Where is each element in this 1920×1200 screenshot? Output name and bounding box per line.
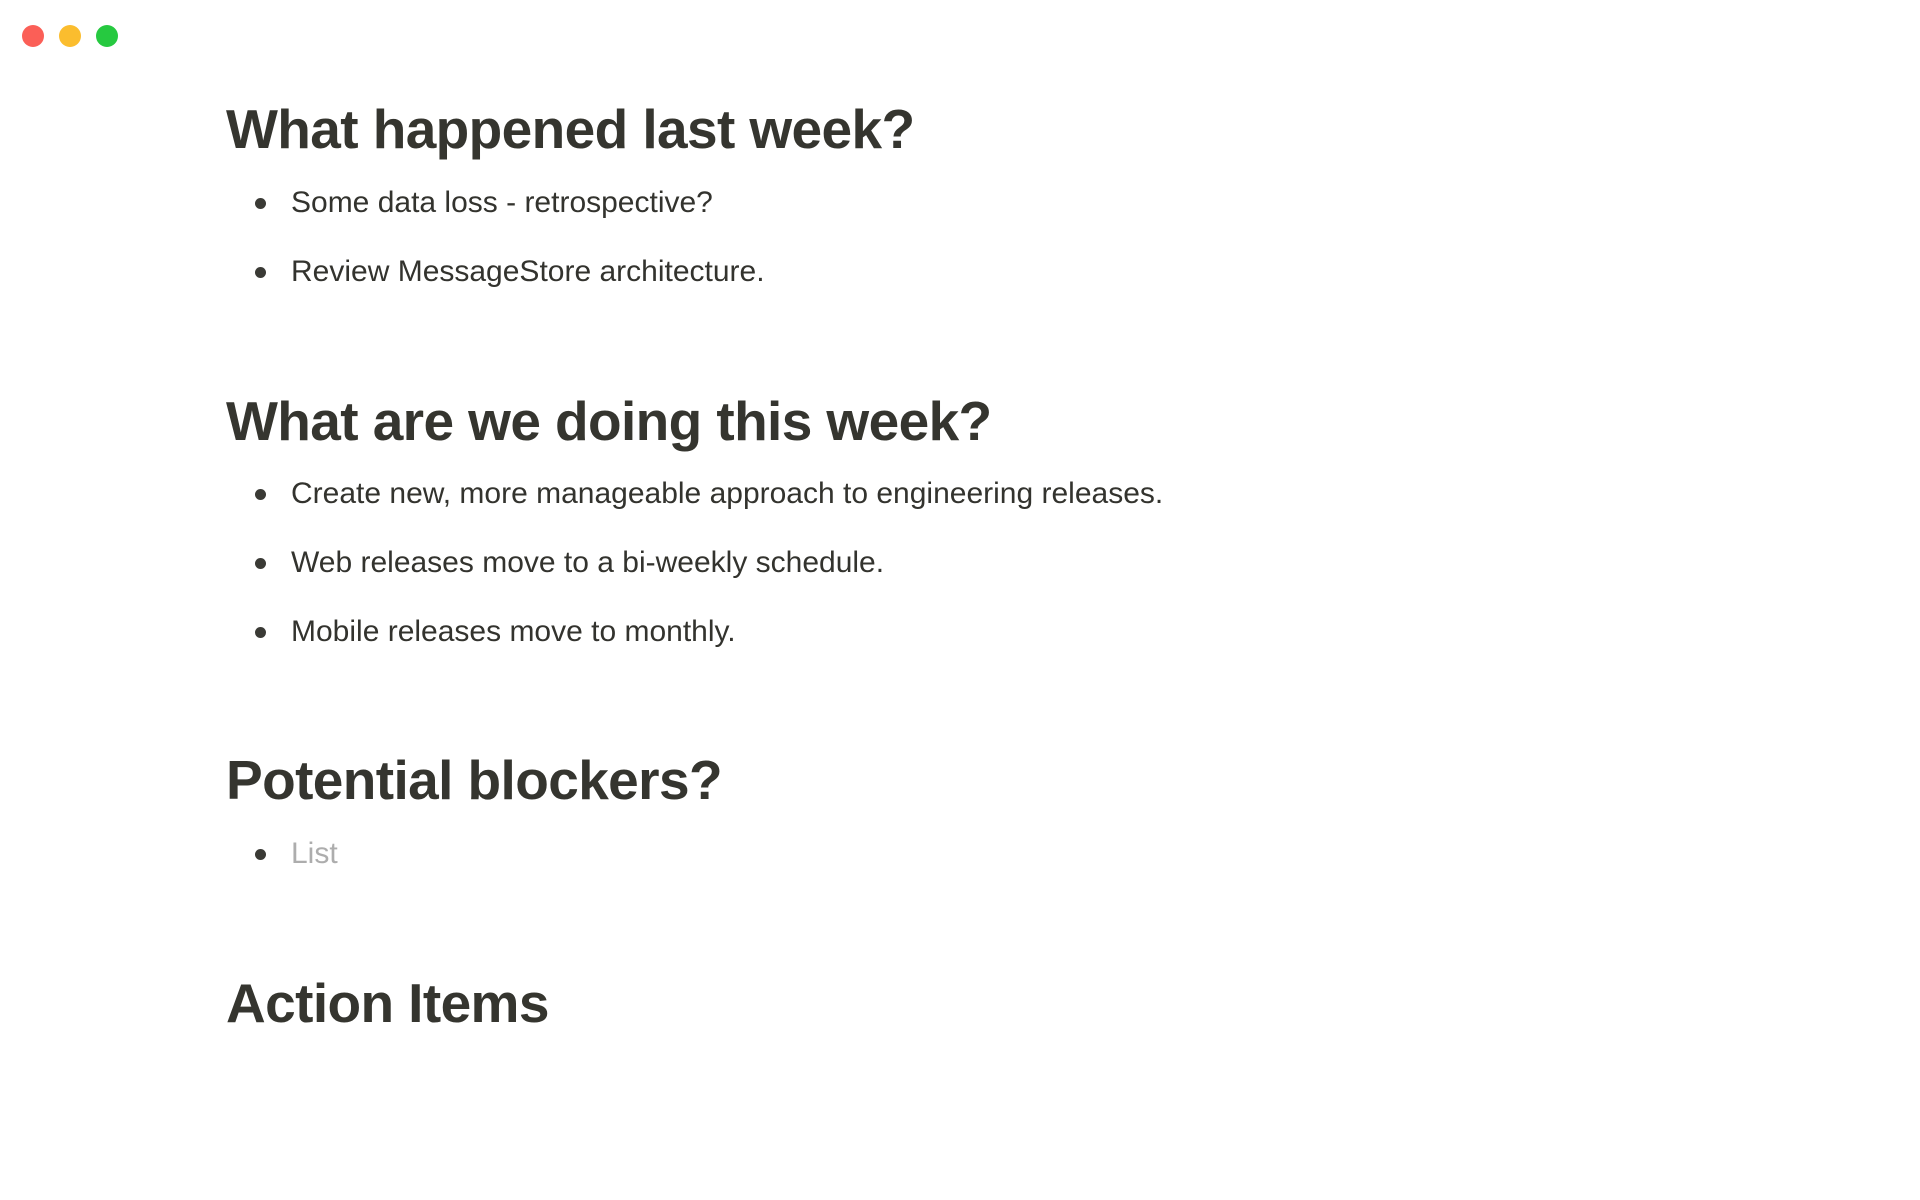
bullet-dot-icon xyxy=(255,558,266,569)
section-action-items: Action Items xyxy=(226,873,1800,1035)
list-item-label: Some data loss - retrospective? xyxy=(291,186,713,219)
bullet-dot-icon xyxy=(255,627,266,638)
window-titlebar xyxy=(0,0,1920,72)
list-item-label: Mobile releases move to monthly. xyxy=(291,615,736,648)
close-window-button[interactable] xyxy=(22,25,44,47)
list-item[interactable]: Some data loss - retrospective? xyxy=(226,183,1800,222)
bullet-dot-icon xyxy=(255,267,266,278)
list-item[interactable]: Mobile releases move to monthly. xyxy=(226,612,1800,651)
bullet-dot-icon xyxy=(255,489,266,500)
section-what-happened-last-week: What happened last week? Some data loss … xyxy=(226,72,1800,291)
section-heading[interactable]: What happened last week? xyxy=(226,99,1800,161)
list-item-placeholder-label: List xyxy=(291,837,338,870)
bullet-dot-icon xyxy=(255,849,266,860)
bullet-list: Some data loss - retrospective? Review M… xyxy=(226,183,1800,291)
list-item-placeholder[interactable]: List xyxy=(226,834,1800,873)
bullet-list: Create new, more manageable approach to … xyxy=(226,474,1800,651)
minimize-window-button[interactable] xyxy=(59,25,81,47)
section-heading[interactable]: Action Items xyxy=(226,973,1800,1035)
bullet-list: List xyxy=(226,834,1800,873)
list-item-label: Web releases move to a bi-weekly schedul… xyxy=(291,546,884,579)
list-item[interactable]: Web releases move to a bi-weekly schedul… xyxy=(226,543,1800,582)
list-item-label: Create new, more manageable approach to … xyxy=(291,477,1163,510)
section-heading[interactable]: Potential blockers? xyxy=(226,750,1800,812)
window-controls xyxy=(22,25,118,47)
maximize-window-button[interactable] xyxy=(96,25,118,47)
section-what-are-we-doing-this-week: What are we doing this week? Create new,… xyxy=(226,291,1800,652)
bullet-dot-icon xyxy=(255,198,266,209)
app-window: What happened last week? Some data loss … xyxy=(0,0,1920,1200)
section-potential-blockers: Potential blockers? List xyxy=(226,651,1800,873)
document-body[interactable]: What happened last week? Some data loss … xyxy=(0,72,1920,1200)
section-heading[interactable]: What are we doing this week? xyxy=(226,391,1800,453)
list-item[interactable]: Review MessageStore architecture. xyxy=(226,252,1800,291)
list-item-label: Review MessageStore architecture. xyxy=(291,255,765,288)
list-item[interactable]: Create new, more manageable approach to … xyxy=(226,474,1800,513)
